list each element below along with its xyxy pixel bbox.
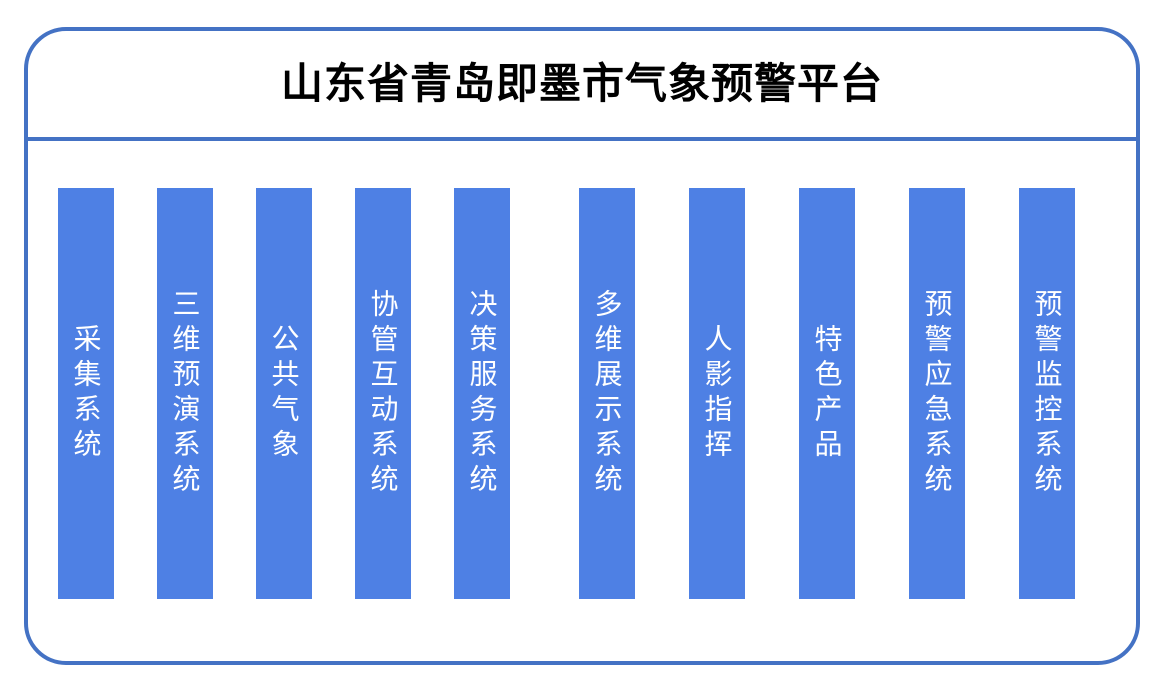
module-bar-3[interactable]: 公共气象 [256,188,312,599]
module-bar-8[interactable]: 特色产品 [799,188,855,599]
module-label: 特色产品 [810,324,845,464]
module-bar-2[interactable]: 三维预演系统 [157,188,213,599]
platform-frame: 山东省青岛即墨市气象预警平台 采集系统 三维预演系统 公共气象 协管互动系统 决… [24,27,1140,665]
module-bar-7[interactable]: 人影指挥 [689,188,745,599]
module-label: 协管互动系统 [366,289,401,499]
module-bar-10[interactable]: 预警监控系统 [1019,188,1075,599]
module-label: 预警应急系统 [920,289,955,499]
title-band: 山东省青岛即墨市气象预警平台 [28,31,1136,137]
module-label: 公共气象 [267,324,302,464]
modules-area: 采集系统 三维预演系统 公共气象 协管互动系统 决策服务系统 多维展示系统 人影… [28,141,1136,661]
module-label: 三维预演系统 [168,289,203,499]
module-label: 采集系统 [69,324,104,464]
module-bar-5[interactable]: 决策服务系统 [454,188,510,599]
module-label: 多维展示系统 [590,289,625,499]
module-label: 人影指挥 [700,324,735,464]
module-label: 决策服务系统 [465,289,500,499]
module-label: 预警监控系统 [1030,289,1065,499]
page-title: 山东省青岛即墨市气象预警平台 [281,63,883,105]
module-bar-9[interactable]: 预警应急系统 [909,188,965,599]
module-bar-6[interactable]: 多维展示系统 [579,188,635,599]
module-bar-4[interactable]: 协管互动系统 [355,188,411,599]
module-bar-1[interactable]: 采集系统 [58,188,114,599]
